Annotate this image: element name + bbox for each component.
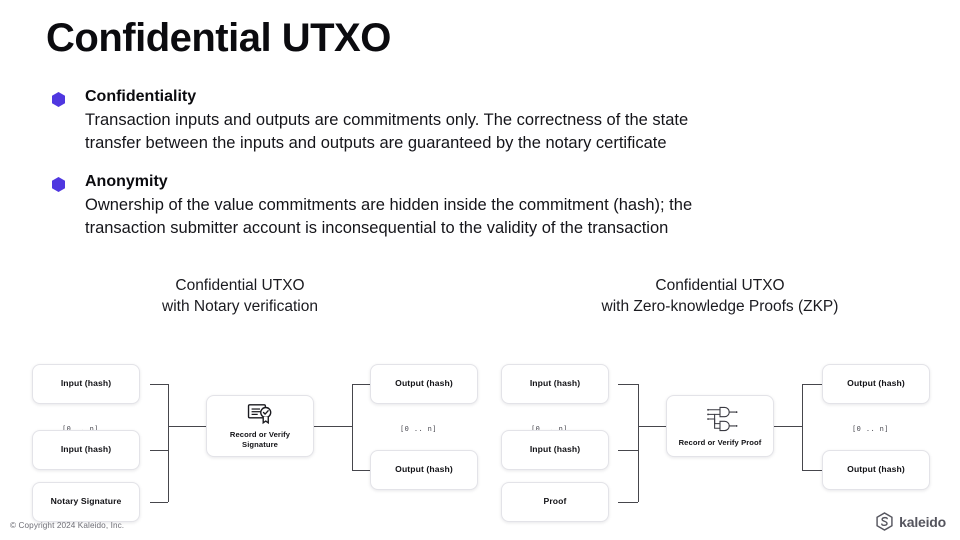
wire-bus-to-processor: [638, 426, 666, 427]
hexagon-bullet-icon: [52, 177, 65, 192]
wire-bus-to-processor: [168, 426, 206, 427]
diagram-canvas: Input (hash) [0 .. n] Input (hash) Notar…: [10, 327, 470, 517]
node-output-1[interactable]: Output (hash): [822, 364, 930, 404]
bullet-item-confidentiality: Confidentiality Transaction inputs and o…: [52, 86, 932, 155]
node-output-2[interactable]: Output (hash): [822, 450, 930, 490]
wire-input-2: [618, 450, 638, 451]
node-proof[interactable]: Proof: [501, 482, 609, 522]
wire-output-bus: [802, 384, 803, 470]
node-label: Output (hash): [395, 464, 453, 476]
bullet-body: Anonymity Ownership of the value commitm…: [85, 171, 932, 240]
copyright-notice: © Copyright 2024 Kaleido, Inc.: [10, 521, 124, 530]
node-label: Notary Signature: [51, 496, 122, 508]
node-notary-signature[interactable]: Notary Signature: [32, 482, 140, 522]
page-title: Confidential UTXO: [46, 14, 391, 62]
wire-processor-to-bus: [774, 426, 802, 427]
diagram-title-line-1: Confidential UTXO: [175, 277, 304, 294]
bullet-text-line-1: Transaction inputs and outputs are commi…: [85, 109, 932, 132]
output-range-label: [0 .. n]: [852, 425, 889, 433]
slide-root: Confidential UTXO Confidentiality Transa…: [0, 0, 960, 540]
diagram-notary-verification: Confidential UTXO with Notary verificati…: [10, 276, 470, 517]
bullet-heading: Anonymity: [85, 171, 932, 193]
wire-input-1: [618, 384, 638, 385]
brand-logo: kaleido: [875, 512, 946, 531]
node-label: Input (hash): [61, 444, 111, 456]
node-label-line-1: Record or Verify Proof: [675, 438, 766, 448]
node-label: Output (hash): [395, 378, 453, 390]
node-output-2[interactable]: Output (hash): [370, 450, 478, 490]
diagram-canvas: Input (hash) [0 .. n] Input (hash) Proof: [490, 327, 950, 517]
bullet-body: Confidentiality Transaction inputs and o…: [85, 86, 932, 155]
wire-input-bus: [638, 384, 639, 502]
diagram-zkp: Confidential UTXO with Zero-knowledge Pr…: [490, 276, 950, 517]
wire-output-2: [352, 470, 370, 471]
node-record-or-verify-proof[interactable]: Record or Verify Proof: [666, 395, 774, 457]
node-label: Output (hash): [847, 378, 905, 390]
hexagon-bullet-icon: [52, 92, 65, 107]
bullet-text-line-2: transaction submitter account is inconse…: [85, 217, 932, 240]
bullet-text-line-1: Ownership of the value commitments are h…: [85, 194, 932, 217]
node-input-1[interactable]: Input (hash): [501, 364, 609, 404]
wire-processor-to-bus: [314, 426, 352, 427]
diagram-title-line-1: Confidential UTXO: [655, 277, 784, 294]
node-input-2[interactable]: Input (hash): [501, 430, 609, 470]
node-output-1[interactable]: Output (hash): [370, 364, 478, 404]
node-label-line-1: Record or Verify: [226, 430, 294, 440]
output-range-label: [0 .. n]: [400, 425, 437, 433]
node-label: Input (hash): [530, 444, 580, 456]
node-input-1[interactable]: Input (hash): [32, 364, 140, 404]
diagram-title: Confidential UTXO with Notary verificati…: [10, 276, 470, 317]
bullet-list: Confidentiality Transaction inputs and o…: [52, 86, 932, 257]
wire-output-1: [352, 384, 370, 385]
node-input-2[interactable]: Input (hash): [32, 430, 140, 470]
node-record-or-verify-signature[interactable]: Record or Verify Signature: [206, 395, 314, 457]
node-label: Input (hash): [530, 378, 580, 390]
node-label: Proof: [544, 496, 567, 508]
bullet-heading: Confidentiality: [85, 86, 932, 108]
kaleido-hexagon-logo-icon: [875, 512, 894, 531]
wire-input-2: [150, 450, 168, 451]
certificate-check-icon: [247, 403, 273, 425]
wire-input-bus: [168, 384, 169, 502]
bullet-item-anonymity: Anonymity Ownership of the value commitm…: [52, 171, 932, 240]
wire-input-1: [150, 384, 168, 385]
wire-output-1: [802, 384, 822, 385]
node-label: Input (hash): [61, 378, 111, 390]
node-label: Output (hash): [847, 464, 905, 476]
wire-input-3: [150, 502, 168, 503]
diagram-title-line-2: with Zero-knowledge Proofs (ZKP): [490, 297, 950, 318]
bullet-text-line-2: transfer between the inputs and outputs …: [85, 132, 932, 155]
diagram-title-line-2: with Notary verification: [10, 297, 470, 318]
logic-gate-circuit-icon: [700, 405, 740, 433]
wire-output-2: [802, 470, 822, 471]
diagram-title: Confidential UTXO with Zero-knowledge Pr…: [490, 276, 950, 317]
node-label-line-2: Signature: [238, 440, 282, 450]
wire-input-3: [618, 502, 638, 503]
wire-output-bus: [352, 384, 353, 470]
brand-name: kaleido: [899, 514, 946, 530]
